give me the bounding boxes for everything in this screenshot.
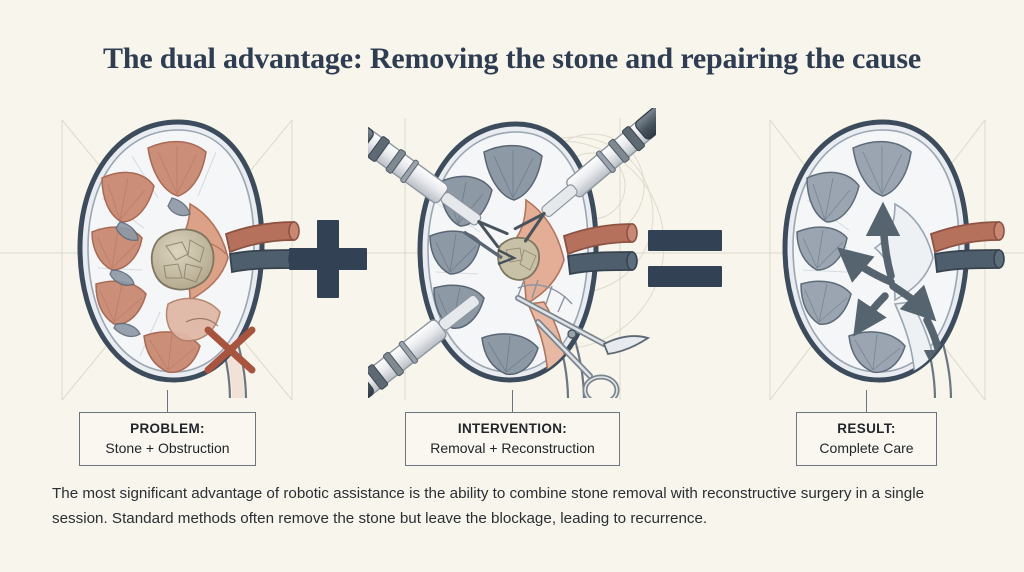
caption-box-problem: PROBLEM: Stone + Obstruction [79, 412, 256, 466]
operator-equals [640, 108, 730, 398]
illustration-row [0, 108, 1024, 398]
operator-plus [283, 108, 373, 398]
caption-box-result: RESULT: Complete Care [796, 412, 937, 466]
caption-connector-intervention [512, 390, 513, 412]
caption-connector-result [866, 390, 867, 412]
caption-lead-problem: PROBLEM: [94, 420, 241, 438]
body-paragraph: The most significant advantage of roboti… [52, 482, 972, 531]
caption-connector-problem [167, 390, 168, 412]
caption-box-intervention: INTERVENTION: Removal + Reconstruction [405, 412, 620, 466]
caption-sub-problem: Stone + Obstruction [94, 439, 241, 457]
page-title: The dual advantage: Removing the stone a… [0, 42, 1024, 76]
panel-result [745, 108, 1015, 398]
panel-intervention [368, 108, 656, 398]
infographic-canvas: The dual advantage: Removing the stone a… [0, 0, 1024, 572]
caption-sub-result: Complete Care [811, 439, 922, 457]
panel-problem [40, 108, 310, 398]
caption-sub-intervention: Removal + Reconstruction [420, 439, 605, 457]
caption-lead-result: RESULT: [811, 420, 922, 438]
kidney-stone-shape [152, 230, 214, 290]
caption-lead-intervention: INTERVENTION: [420, 420, 605, 438]
